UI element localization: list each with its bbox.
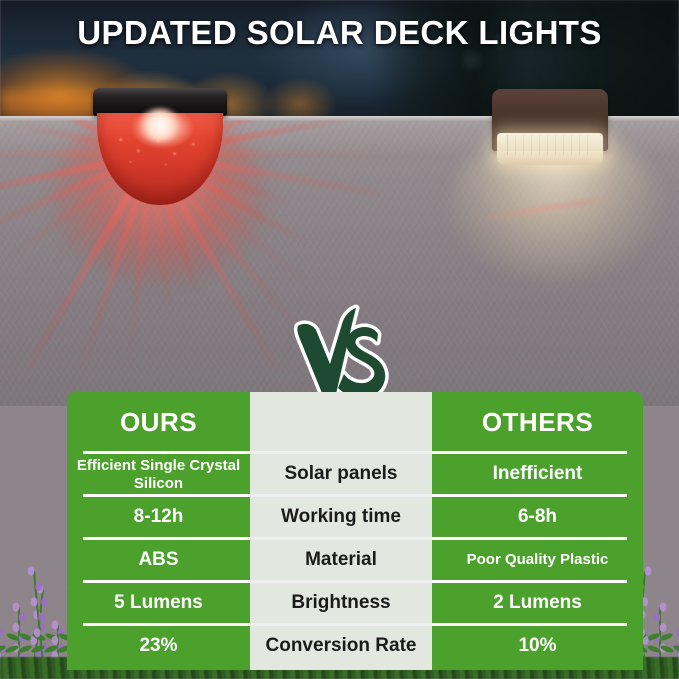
table-row: 5 LumensBrightness2 Lumens [67, 582, 643, 625]
header-ours: OURS [67, 392, 250, 453]
cell-others: 2 Lumens [432, 582, 643, 625]
cell-others: Poor Quality Plastic [432, 539, 643, 582]
comparison-table: OURS OTHERS Efficient Single Crystal Sil… [67, 392, 643, 670]
header-feature [250, 392, 432, 453]
cell-ours: Efficient Single Crystal Silicon [67, 453, 250, 496]
page-title: UPDATED SOLAR DECK LIGHTS [0, 14, 679, 52]
cell-ours: 5 Lumens [67, 582, 250, 625]
solar-deck-light-brown [492, 89, 608, 177]
cell-others: 10% [432, 625, 643, 668]
cell-others: 6-8h [432, 496, 643, 539]
cell-feature: Working time [250, 496, 432, 539]
header-others: OTHERS [432, 392, 643, 453]
lamp-lens-warm-white [497, 133, 603, 165]
table-row: 8-12hWorking time6-8h [67, 496, 643, 539]
product-comparison-image: UPDATED SOLAR DECK LIGHTS OURS OTHERS Ef… [0, 0, 679, 679]
table-row: Efficient Single Crystal SiliconSolar pa… [67, 453, 643, 496]
cell-feature: Solar panels [250, 453, 432, 496]
cell-ours: 23% [67, 625, 250, 668]
cell-ours: ABS [67, 539, 250, 582]
cell-ours: 8-12h [67, 496, 250, 539]
cell-feature: Conversion Rate [250, 625, 432, 668]
cell-others: Inefficient [432, 453, 643, 496]
cell-feature: Brightness [250, 582, 432, 625]
table-row: 23%Conversion Rate10% [67, 625, 643, 668]
table-row: ABSMaterialPoor Quality Plastic [67, 539, 643, 582]
solar-deck-light-red [85, 88, 235, 198]
lamp-led-hotspot [139, 108, 181, 142]
cell-feature: Material [250, 539, 432, 582]
table-header-row: OURS OTHERS [67, 392, 643, 453]
